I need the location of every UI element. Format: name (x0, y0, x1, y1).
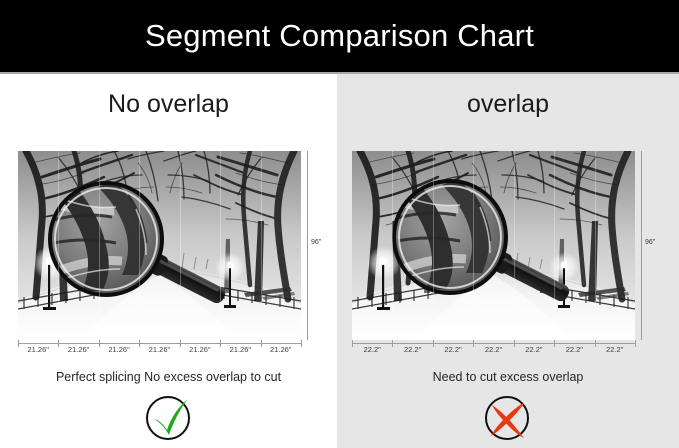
segment-label: 21.26" (261, 345, 301, 354)
height-dimension-line-right (641, 151, 642, 340)
dimension-line (18, 343, 301, 344)
segment-label: 22.2" (392, 345, 432, 354)
segment-label: 21.26" (99, 345, 139, 354)
segment-label: 21.26" (180, 345, 220, 354)
height-label-right: 96" (645, 239, 655, 246)
comparison-chart-page: Segment Comparison Chart No overlap (0, 0, 679, 448)
photo-block-overlap: 96" 22.2" 22.2" 22.2" 22.2" 22.2" 22.2" (352, 151, 635, 340)
panel-no-overlap: No overlap (0, 74, 337, 448)
segment-label: 22.2" (473, 345, 513, 354)
panel-overlap: overlap (337, 74, 679, 448)
height-dimension-line-left (307, 151, 308, 340)
dimension-line (352, 343, 635, 344)
segment-label: 21.26" (220, 345, 260, 354)
caption-no-overlap: Perfect splicing No excess overlap to cu… (0, 370, 337, 384)
height-label-left: 96" (311, 239, 321, 246)
caption-overlap: Need to cut excess overlap (337, 370, 679, 384)
photo-block-no-overlap: 96" 21.26" 21.26" 21.26" 21.26" 21.26" (18, 151, 301, 340)
segment-label: 21.26" (58, 345, 98, 354)
title-banner: Segment Comparison Chart (0, 0, 679, 72)
segment-label: 22.2" (433, 345, 473, 354)
panel-heading-overlap: overlap (337, 90, 679, 119)
segment-label: 22.2" (514, 345, 554, 354)
segment-label: 22.2" (595, 345, 635, 354)
segment-label: 21.26" (18, 345, 58, 354)
segment-label: 21.26" (139, 345, 179, 354)
winter-park-photo-left (18, 151, 301, 340)
segment-label: 22.2" (352, 345, 392, 354)
verdict-check-mark (142, 392, 196, 444)
panel-heading-no-overlap: No overlap (0, 90, 337, 119)
segment-label: 22.2" (554, 345, 594, 354)
page-title: Segment Comparison Chart (145, 18, 534, 54)
verdict-cross-mark (481, 392, 535, 444)
winter-park-photo-right (352, 151, 635, 340)
